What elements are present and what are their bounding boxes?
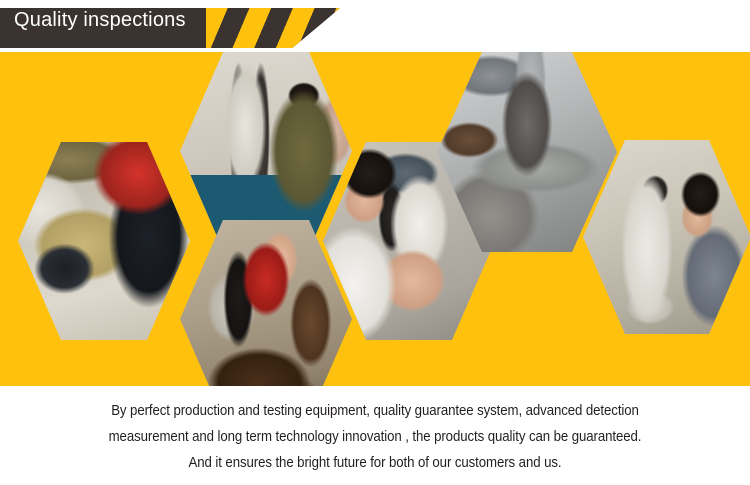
gallery-stage (0, 52, 750, 386)
caption-block: By perfect production and testing equipm… (0, 388, 750, 485)
caption-line-2: measurement and long term technology inn… (30, 424, 720, 450)
photo-ultrasonic-flaw-detection (18, 142, 190, 340)
quality-inspections-banner: Quality inspections By perfect productio… (0, 0, 750, 485)
hex-photo-ultrasonic-flaw-detection (18, 142, 190, 340)
page-title: Quality inspections (14, 0, 186, 40)
hazard-stripes-decoration (206, 8, 340, 48)
caption-line-3: And it ensures the bright future for bot… (30, 450, 720, 476)
caption-line-1: By perfect production and testing equipm… (30, 398, 720, 424)
